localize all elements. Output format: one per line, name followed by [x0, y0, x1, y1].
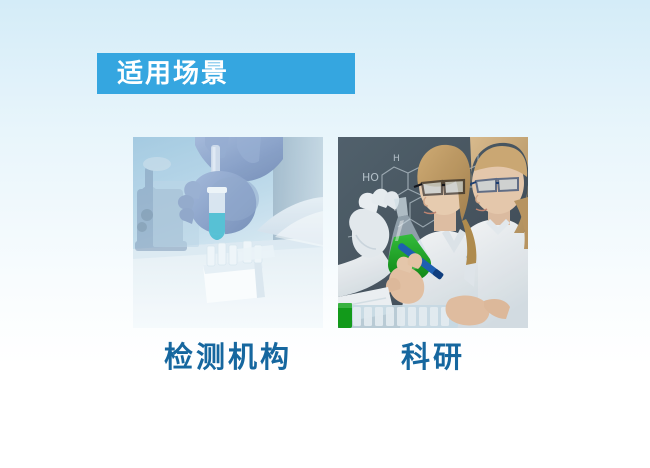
scenario-card-scientific-research[interactable]: HO H H H H CH 2 OH C O H 3 C	[338, 137, 528, 374]
scenario-caption-testing-institution: 检测机构	[133, 342, 323, 374]
scenario-card-testing-institution[interactable]: 检测机构	[133, 137, 323, 374]
lab-pipetting-photo	[133, 137, 323, 328]
scenario-caption-scientific-research: 科研	[338, 342, 528, 374]
scientists-flask-photo: HO H H H H CH 2 OH C O H 3 C	[338, 137, 528, 328]
scenario-card-list: 检测机构	[133, 137, 519, 387]
section-title-banner: 适用场景	[97, 53, 355, 94]
page-title: 适用场景	[97, 61, 229, 87]
